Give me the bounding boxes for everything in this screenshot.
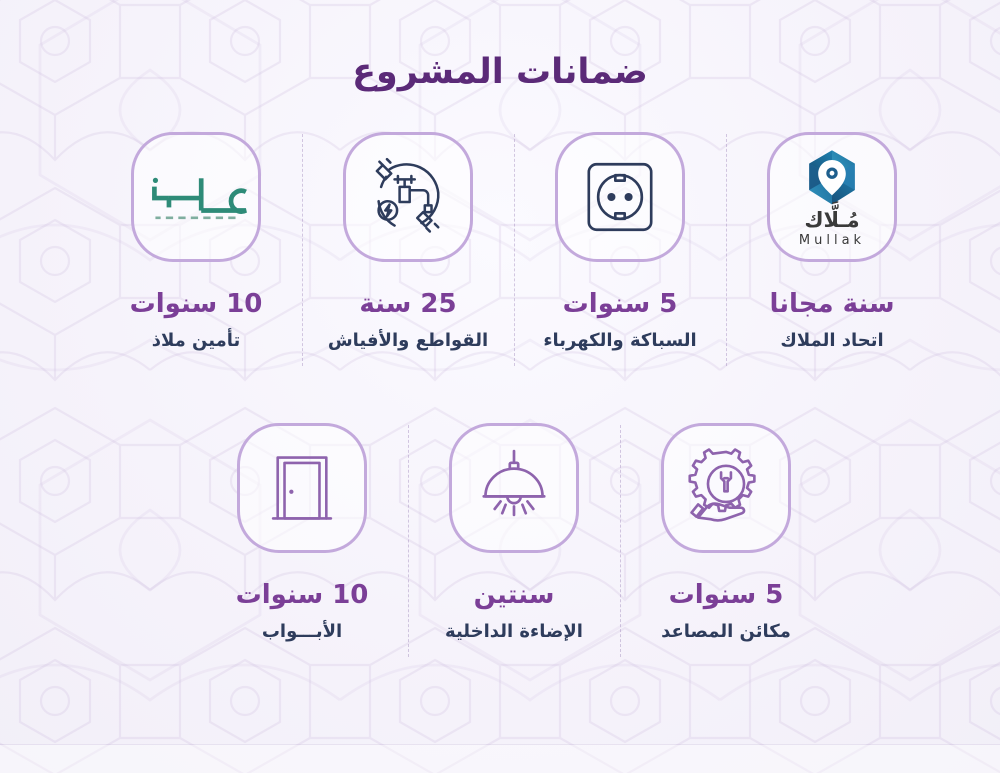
guarantee-duration: سنتين <box>474 581 555 610</box>
guarantee-card-malath-insurance[interactable]: 10 سنوات تأمين ملاذ <box>90 132 302 350</box>
guarantee-label: الأبـــواب <box>262 622 342 642</box>
power-socket-icon <box>581 158 659 236</box>
bottom-row: 5 سنوات مكائن المصاعد <box>196 423 832 641</box>
pendant-lamp-icon <box>472 446 556 530</box>
socket-icon-box <box>555 132 685 262</box>
malath-logo-icon <box>144 173 248 221</box>
guarantee-duration: 10 سنوات <box>236 581 369 610</box>
lamp-icon-box <box>449 423 579 553</box>
gear-wrench-hand-icon <box>685 447 767 529</box>
malath-logo-box <box>131 132 261 262</box>
page-title: ضمانات المشروع <box>0 52 1000 92</box>
guarantee-duration: 10 سنوات <box>130 290 263 319</box>
arabesque-background-pattern <box>0 0 1000 773</box>
guarantee-label: تأمين ملاذ <box>152 331 241 351</box>
gear-icon-box <box>661 423 791 553</box>
guarantee-label: السباكة والكهرباء <box>543 331 696 351</box>
guarantee-label: اتحاد الملاك <box>780 331 883 351</box>
guarantee-card-doors[interactable]: 10 سنوات الأبـــواب <box>196 423 408 641</box>
bottom-divider-line <box>0 744 1000 745</box>
guarantee-card-plumbing-electricity[interactable]: 5 سنوات السباكة والكهرباء <box>514 132 726 350</box>
bottom-band <box>0 745 1000 773</box>
guarantee-card-elevator-machines[interactable]: 5 سنوات مكائن المصاعد <box>620 423 832 641</box>
guarantee-label: القواطع والأفياش <box>328 331 488 351</box>
guarantee-card-interior-lighting[interactable]: سنتين الإضاءة الداخلية <box>408 423 620 641</box>
mullak-logo-icon: مُـلَّاك Mullak <box>799 148 865 247</box>
guarantee-card-owners-association[interactable]: مُـلَّاك Mullak سنة مجانا اتحاد الملاك <box>726 132 938 350</box>
guarantee-label: الإضاءة الداخلية <box>445 622 583 642</box>
guarantee-duration: 25 سنة <box>359 290 456 319</box>
guarantee-duration: 5 سنوات <box>669 581 784 610</box>
door-icon-box <box>237 423 367 553</box>
mullak-logo-box: مُـلَّاك Mullak <box>767 132 897 262</box>
faucet-plug-icon <box>366 155 450 239</box>
guarantee-card-breakers-sockets[interactable]: 25 سنة القواطع والأفياش <box>302 132 514 350</box>
top-row: مُـلَّاك Mullak سنة مجانا اتحاد الملاك <box>86 132 942 350</box>
mullak-logo-latin: Mullak <box>799 234 865 247</box>
guarantee-duration: سنة مجانا <box>769 290 894 319</box>
mullak-logo-arabic: مُـلَّاك <box>804 210 859 231</box>
guarantee-label: مكائن المصاعد <box>661 622 791 642</box>
guarantees-poster: ضمانات المشروع <box>0 0 1000 773</box>
door-icon <box>264 450 340 526</box>
guarantee-duration: 5 سنوات <box>563 290 678 319</box>
faucet-icon-box <box>343 132 473 262</box>
